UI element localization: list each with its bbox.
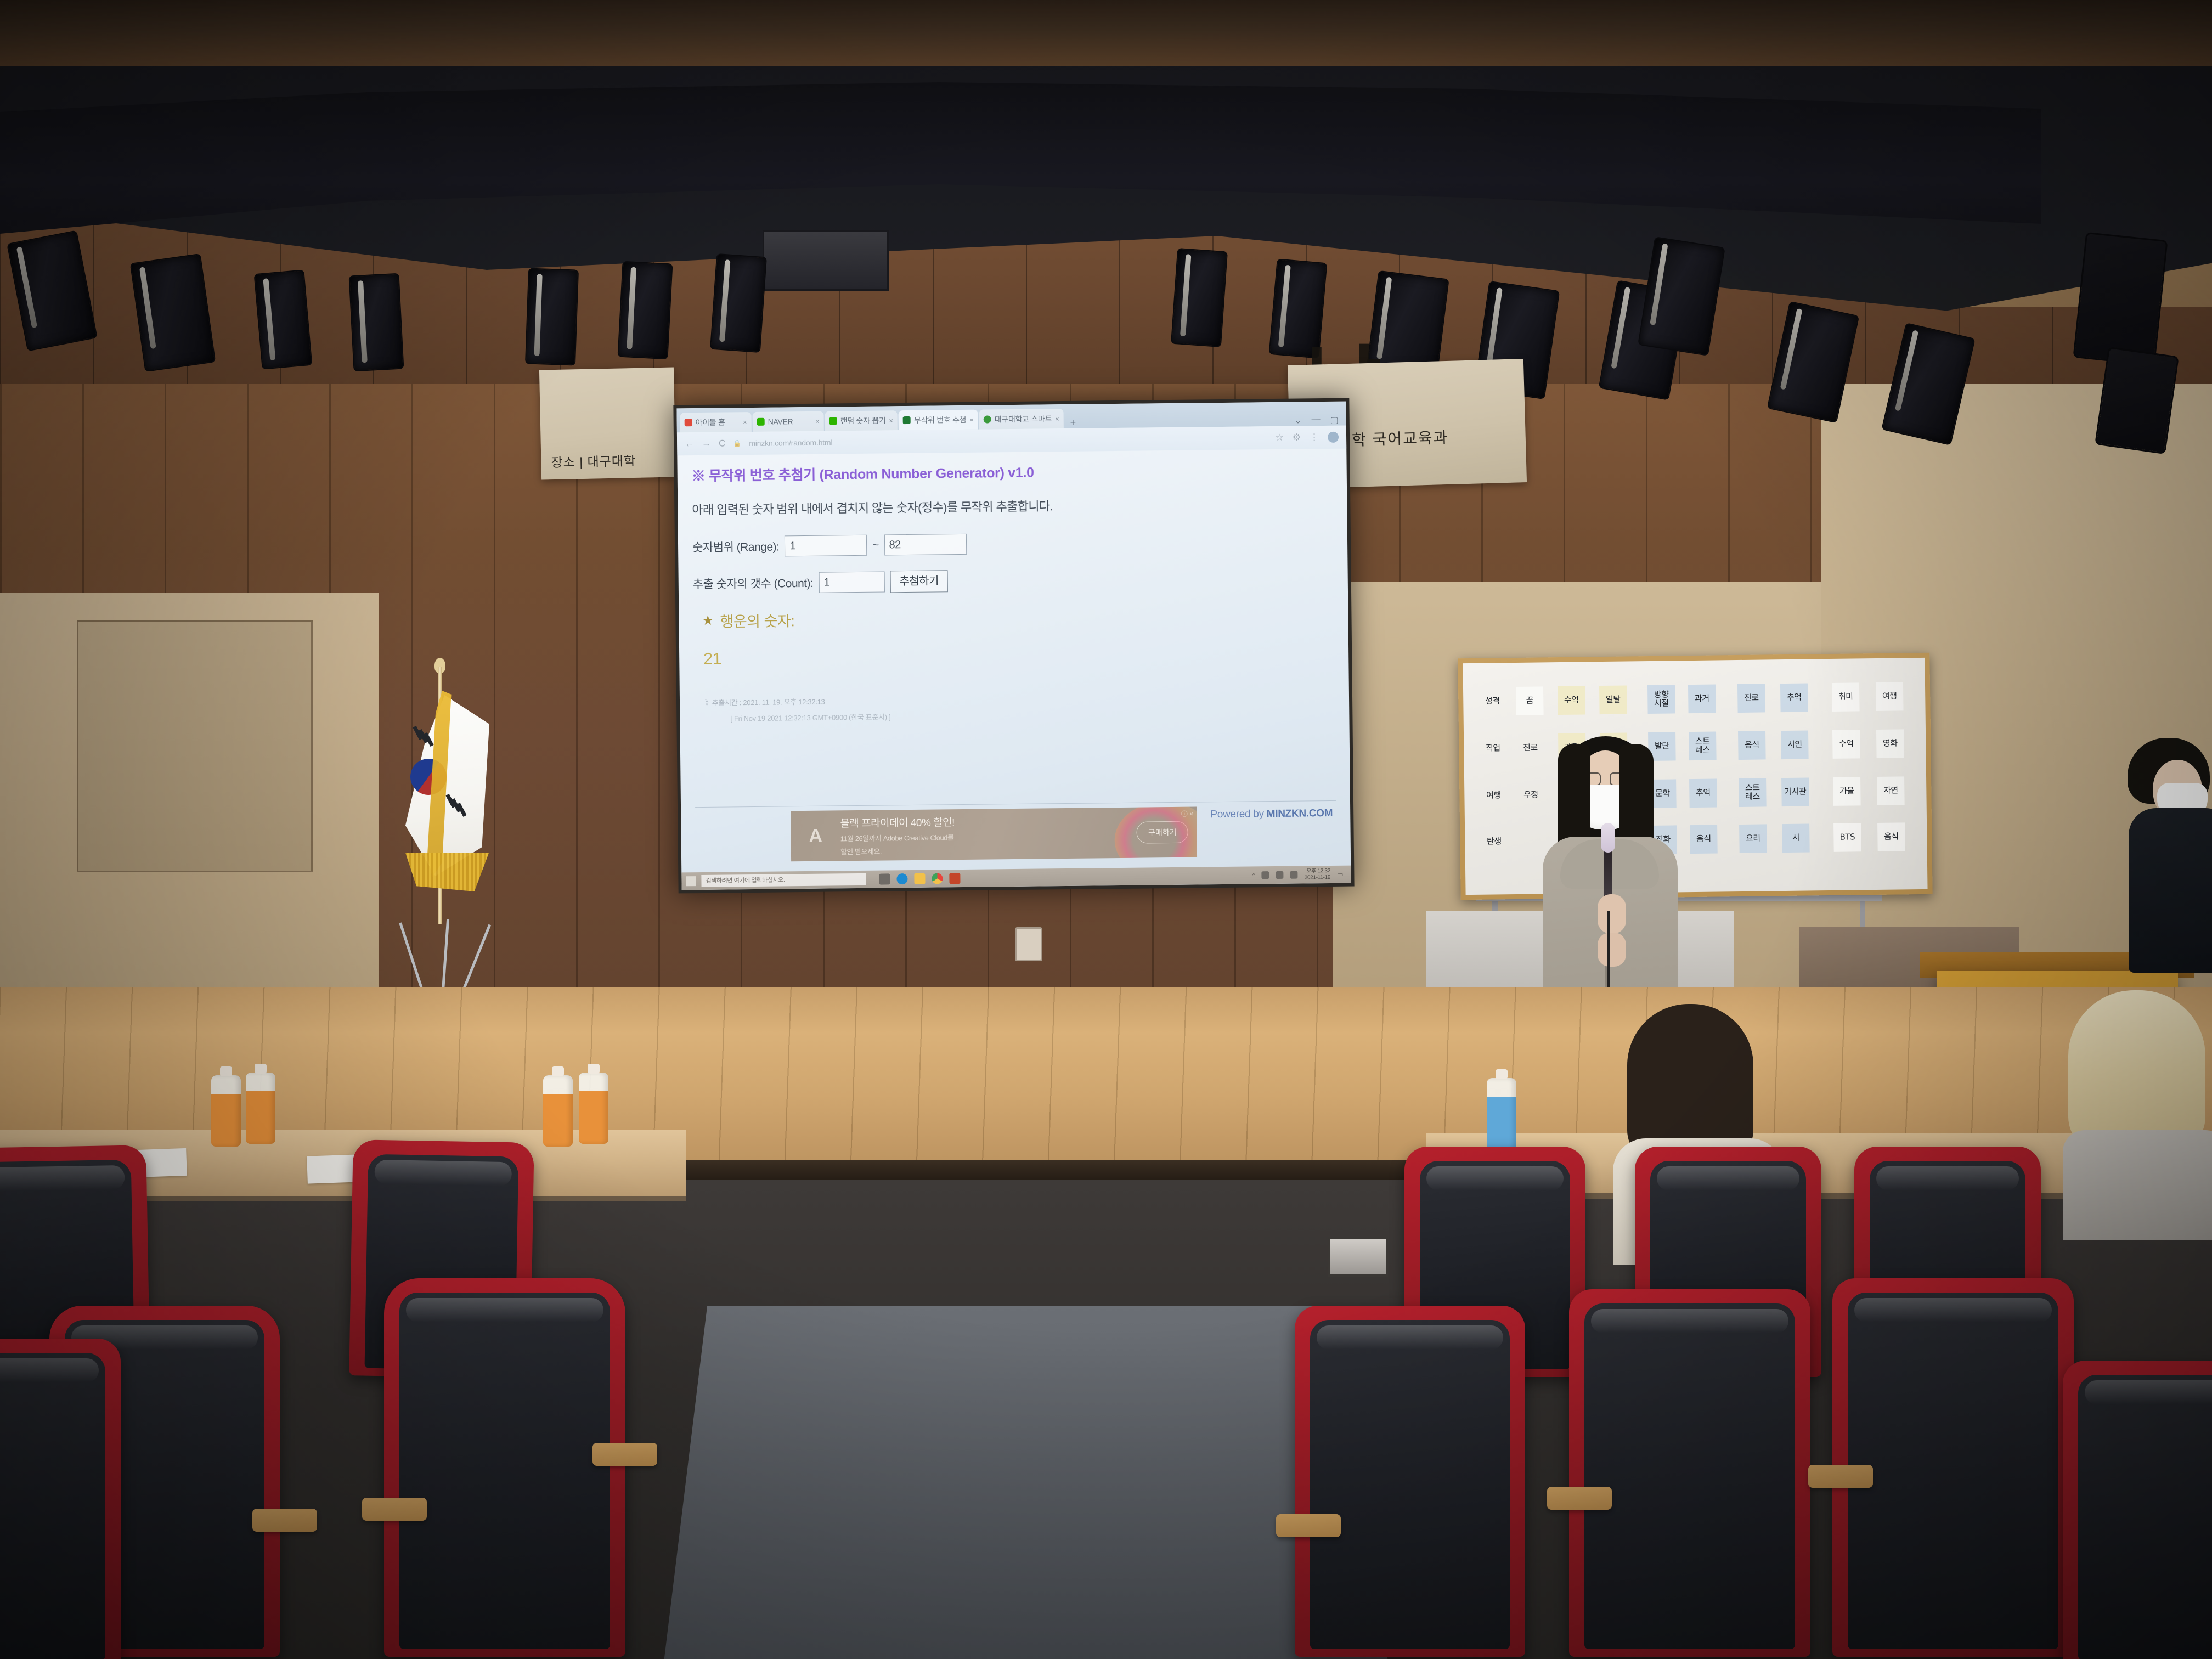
sticky-note: 방향시절	[1647, 685, 1675, 714]
close-icon[interactable]: ×	[969, 415, 974, 424]
favicon-icon	[903, 416, 911, 424]
auditorium-seat[interactable]	[2063, 1361, 2212, 1659]
stage-light-icon	[254, 269, 313, 369]
range-min-input[interactable]: 1	[785, 535, 867, 557]
sticky-note: 직업	[1479, 734, 1507, 763]
microphone-head-icon	[1601, 823, 1615, 853]
task-view-icon[interactable]	[879, 873, 890, 884]
auditorium-seat[interactable]	[1295, 1306, 1525, 1657]
seat-highlight	[374, 1160, 512, 1186]
taskbar-tray: ^ 오후 12:32 2021-11-19 ▭	[1252, 867, 1347, 882]
stage-light-icon	[525, 268, 579, 365]
drink-bottle	[1487, 1078, 1516, 1149]
range-row: 숫자범위 (Range): 1 ~ 82	[692, 530, 1333, 557]
range-separator: ~	[872, 539, 878, 551]
korean-flag	[384, 667, 499, 996]
whiteboard: 성격꿈수억일탈방향시절과거진로추억취미여행직업진로계절친구발단스트레스음식시인수…	[1458, 653, 1932, 900]
sticky-note: 성격	[1479, 687, 1506, 716]
person-jacket	[2129, 808, 2212, 973]
stage-light-icon	[1171, 248, 1228, 347]
sticky-note: 일탈	[1599, 686, 1627, 715]
ceiling-strip	[0, 0, 2212, 71]
close-icon[interactable]: ×	[1055, 415, 1059, 423]
ad-text-block: 블랙 프라이데이 40% 할인! 11월 26일까지 Adobe Creativ…	[840, 814, 955, 856]
seat-back	[1310, 1320, 1510, 1649]
tab-label: 아이돌 홈	[696, 416, 725, 428]
seat-highlight	[2085, 1380, 2212, 1404]
clock-time: 오후 12:32	[1306, 867, 1330, 873]
banner-left-text: 장소 | 대구대학	[551, 450, 636, 471]
ad-headline: 블랙 프라이데이 40% 할인!	[840, 814, 955, 830]
standing-person-right	[2107, 738, 2212, 968]
stage-light-icon	[348, 273, 404, 372]
sticky-note: 시	[1782, 823, 1810, 853]
range-label: 숫자범위 (Range):	[692, 538, 780, 555]
powered-by: Powered by MINZKN.COM	[1210, 808, 1333, 821]
menu-icon[interactable]: ⋮	[1310, 432, 1319, 443]
seat-back	[1584, 1304, 1795, 1649]
left-wall-inset	[77, 620, 313, 872]
sticky-note: 과거	[1688, 685, 1716, 714]
sticky-note: 음식	[1690, 825, 1718, 854]
drink-bottle	[246, 1073, 275, 1144]
seat-highlight	[1854, 1298, 2052, 1322]
auditorium-seat[interactable]	[384, 1278, 625, 1657]
close-icon[interactable]: ×	[815, 417, 820, 425]
seat-armrest	[252, 1509, 317, 1532]
ad-subline-2: 할인 받으세요.	[840, 845, 955, 856]
file-explorer-icon[interactable]	[914, 873, 925, 884]
adobe-logo-icon: A	[799, 820, 832, 853]
star-icon: ★	[702, 613, 713, 629]
seat-armrest	[362, 1498, 427, 1521]
ceiling-speaker	[2095, 347, 2179, 454]
seat-highlight	[1876, 1166, 2019, 1190]
browser-tab-4[interactable]: 대구대학교 스마트 ×	[979, 409, 1064, 430]
seat-highlight	[0, 1358, 99, 1383]
sticky-note: 추억	[1780, 683, 1808, 712]
seated-attendee-right	[2063, 990, 2212, 1221]
ad-subline-1: 11월 26일까지 Adobe Creative Cloud를	[840, 832, 955, 843]
event-banner-left: 장소 | 대구대학	[539, 367, 676, 479]
seat-armrest	[1547, 1487, 1612, 1510]
seat-highlight	[1591, 1309, 1788, 1333]
auditorium-seat[interactable]	[1569, 1289, 1810, 1657]
chevron-up-icon[interactable]: ^	[1252, 872, 1255, 878]
taskbar-search-input[interactable]: 검색하려면 여기에 입력하십시오.	[701, 873, 866, 887]
sticky-note: 음식	[1738, 731, 1766, 760]
divider	[695, 800, 1336, 808]
avatar[interactable]	[1328, 432, 1339, 443]
stage-light-icon	[710, 253, 767, 353]
projected-browser-window: 아이돌 홈 × NAVER × 랜덤 숫자 뽑기 × 무작위 번호 추첨 ×	[676, 402, 1351, 890]
address-bar-actions: ☆ ⚙ ⋮	[1275, 432, 1339, 443]
reload-icon[interactable]: C	[719, 438, 725, 449]
close-icon[interactable]: ×	[743, 418, 747, 426]
drink-bottle	[543, 1075, 573, 1147]
browser-tab-2[interactable]: 랜덤 숫자 뽑기 ×	[825, 410, 898, 431]
forward-arrow-icon[interactable]: →	[702, 438, 711, 449]
sticky-note: 수억	[1558, 686, 1585, 715]
floor-monitor-device	[1328, 1237, 1388, 1277]
seat-armrest	[1276, 1514, 1341, 1537]
seat-back	[2078, 1375, 2212, 1659]
sticky-note: 스트레스	[1739, 778, 1767, 807]
auditorium-seat[interactable]	[1832, 1278, 2074, 1657]
browser-tab-0[interactable]: 아이돌 홈 ×	[680, 412, 752, 432]
powered-prefix: Powered by	[1210, 808, 1267, 820]
taskbar-pinned-apps	[879, 873, 960, 885]
flag-tripod-stand	[400, 916, 483, 998]
maximize-icon[interactable]: ▢	[1330, 415, 1338, 426]
seat-back	[0, 1353, 105, 1659]
result-label: 행운의 숫자:	[720, 609, 794, 631]
range-max-input[interactable]: 82	[884, 534, 966, 556]
presenter-hand	[1598, 894, 1626, 934]
seat-highlight	[1426, 1166, 1564, 1190]
favicon-icon	[685, 419, 692, 426]
flag-fringe	[398, 853, 489, 891]
favicon-icon	[757, 418, 765, 426]
drink-bottle	[579, 1073, 608, 1144]
sticky-note: BTS	[1833, 823, 1861, 852]
close-icon[interactable]: ×	[889, 416, 893, 425]
center-aisle-carpet	[664, 1306, 1388, 1659]
internet-explorer-icon[interactable]	[896, 873, 907, 884]
seat-back	[399, 1293, 610, 1649]
clock-date: 2021-11-19	[1305, 874, 1331, 881]
browser-tab-3-active[interactable]: 무작위 번호 추첨 ×	[899, 410, 978, 431]
count-input[interactable]: 1	[819, 571, 884, 592]
sticky-note: 탄생	[1480, 827, 1508, 856]
powerpoint-icon[interactable]	[949, 873, 960, 884]
result-value: 21	[703, 644, 1334, 669]
chrome-icon[interactable]	[932, 873, 943, 884]
settings-icon[interactable]	[1290, 871, 1298, 879]
sticky-note: 여행	[1480, 781, 1508, 810]
drink-bottle	[211, 1075, 241, 1147]
page-description: 아래 입력된 숫자 범위 내에서 겹치지 않는 숫자(정수)를 무작위 추출합니…	[692, 494, 1333, 518]
tab-label: 랜덤 숫자 뽑기	[840, 415, 886, 426]
taskbar-clock[interactable]: 오후 12:32 2021-11-19	[1305, 867, 1331, 881]
wall-outlet	[1015, 927, 1042, 961]
tab-label: 대구대학교 스마트	[995, 413, 1052, 425]
ceiling-air-vent	[763, 230, 889, 291]
seat-armrest	[592, 1443, 657, 1466]
count-row: 추출 숫자의 갯수 (Count): 1 추첨하기	[693, 566, 1334, 595]
sticky-note: 가을	[1833, 777, 1861, 806]
ceiling-speaker	[2073, 232, 2168, 366]
new-tab-button[interactable]: +	[1065, 417, 1082, 428]
favicon-icon	[830, 417, 837, 425]
start-button-icon[interactable]	[686, 876, 696, 886]
adobe-ad-banner[interactable]: A 블랙 프라이데이 40% 할인! 11월 26일까지 Adobe Creat…	[791, 807, 1197, 862]
volume-icon[interactable]	[1276, 871, 1284, 879]
sticky-note: 여행	[1876, 682, 1904, 711]
sticky-note: 꿈	[1516, 686, 1544, 715]
favicon-icon	[984, 415, 991, 423]
sticky-note: 수억	[1832, 730, 1860, 759]
auditorium-scene: 장소 | 대구대학 날 사범대학 국어교육과 아이돌 홈 × NAVER ×	[0, 0, 2212, 1659]
bookmark-star-icon[interactable]: ☆	[1275, 432, 1283, 443]
result-label-row: ★ 행운의 숫자:	[702, 603, 1334, 631]
sticky-note: 가시관	[1781, 777, 1809, 806]
sticky-note: 진로	[1737, 684, 1765, 713]
minimize-icon[interactable]: —	[1311, 415, 1320, 426]
webpage-content: ※ 무작위 번호 추첨기 (Random Number Generator) v…	[677, 449, 1351, 873]
seat-highlight	[1657, 1166, 1799, 1190]
stage-light-icon	[130, 253, 216, 372]
presenter-hand-lower	[1598, 933, 1626, 967]
sticky-note: 요리	[1739, 824, 1767, 853]
sticky-note: 스트레스	[1689, 732, 1717, 761]
tab-label: 무작위 번호 추첨	[914, 414, 966, 426]
sticky-note: 영화	[1876, 729, 1904, 758]
sticky-note: 자연	[1877, 776, 1905, 805]
tab-label: NAVER	[768, 417, 793, 426]
attendee-top	[2063, 1130, 2212, 1240]
network-icon[interactable]	[1262, 871, 1269, 879]
stage-light-icon	[617, 261, 673, 360]
seat-highlight	[0, 1165, 125, 1192]
count-label: 추출 숫자의 갯수 (Count):	[693, 574, 814, 592]
page-title: ※ 무작위 번호 추첨기 (Random Number Generator) v…	[692, 459, 1333, 485]
browser-tab-1[interactable]: NAVER ×	[753, 411, 824, 432]
result-timestamp-local: 》추출시간 : 2021. 11. 19. 오후 12:32:13	[705, 691, 1335, 708]
chevron-down-icon[interactable]: ⌄	[1294, 415, 1302, 426]
window-controls: ⌄ — ▢	[1294, 415, 1346, 426]
result-timestamp-iso: [ Fri Nov 19 2021 12:32:13 GMT+0900 (한국 …	[730, 707, 1335, 724]
url-input[interactable]: minzkn.com/random.html	[749, 438, 832, 448]
notifications-icon[interactable]: ▭	[1337, 871, 1343, 878]
seat-armrest	[1808, 1465, 1873, 1488]
sticky-note: 취미	[1832, 682, 1860, 712]
whiteboard-surface: 성격꿈수억일탈방향시절과거진로추억취미여행직업진로계절친구발단스트레스음식시인수…	[1463, 658, 1927, 895]
seat-highlight	[1317, 1325, 1503, 1350]
extensions-icon[interactable]: ⚙	[1293, 432, 1301, 443]
back-arrow-icon[interactable]: ←	[685, 438, 694, 449]
seat-back	[1848, 1293, 2058, 1649]
tripod-leg	[441, 919, 449, 998]
lock-icon: 🔒	[733, 439, 741, 447]
powered-brand: MINZKN.COM	[1267, 808, 1333, 820]
sticky-note: 추억	[1689, 779, 1717, 808]
ad-close-icon[interactable]: ⓘ ×	[1181, 809, 1194, 819]
auditorium-seat[interactable]	[0, 1339, 121, 1659]
sticky-note: 시인	[1781, 730, 1809, 759]
projection-screen: 아이돌 홈 × NAVER × 랜덤 숫자 뽑기 × 무작위 번호 추첨 ×	[673, 398, 1354, 894]
draw-button[interactable]: 추첨하기	[890, 570, 948, 592]
seat-highlight	[406, 1298, 603, 1322]
sticky-note: 음식	[1877, 822, 1905, 851]
